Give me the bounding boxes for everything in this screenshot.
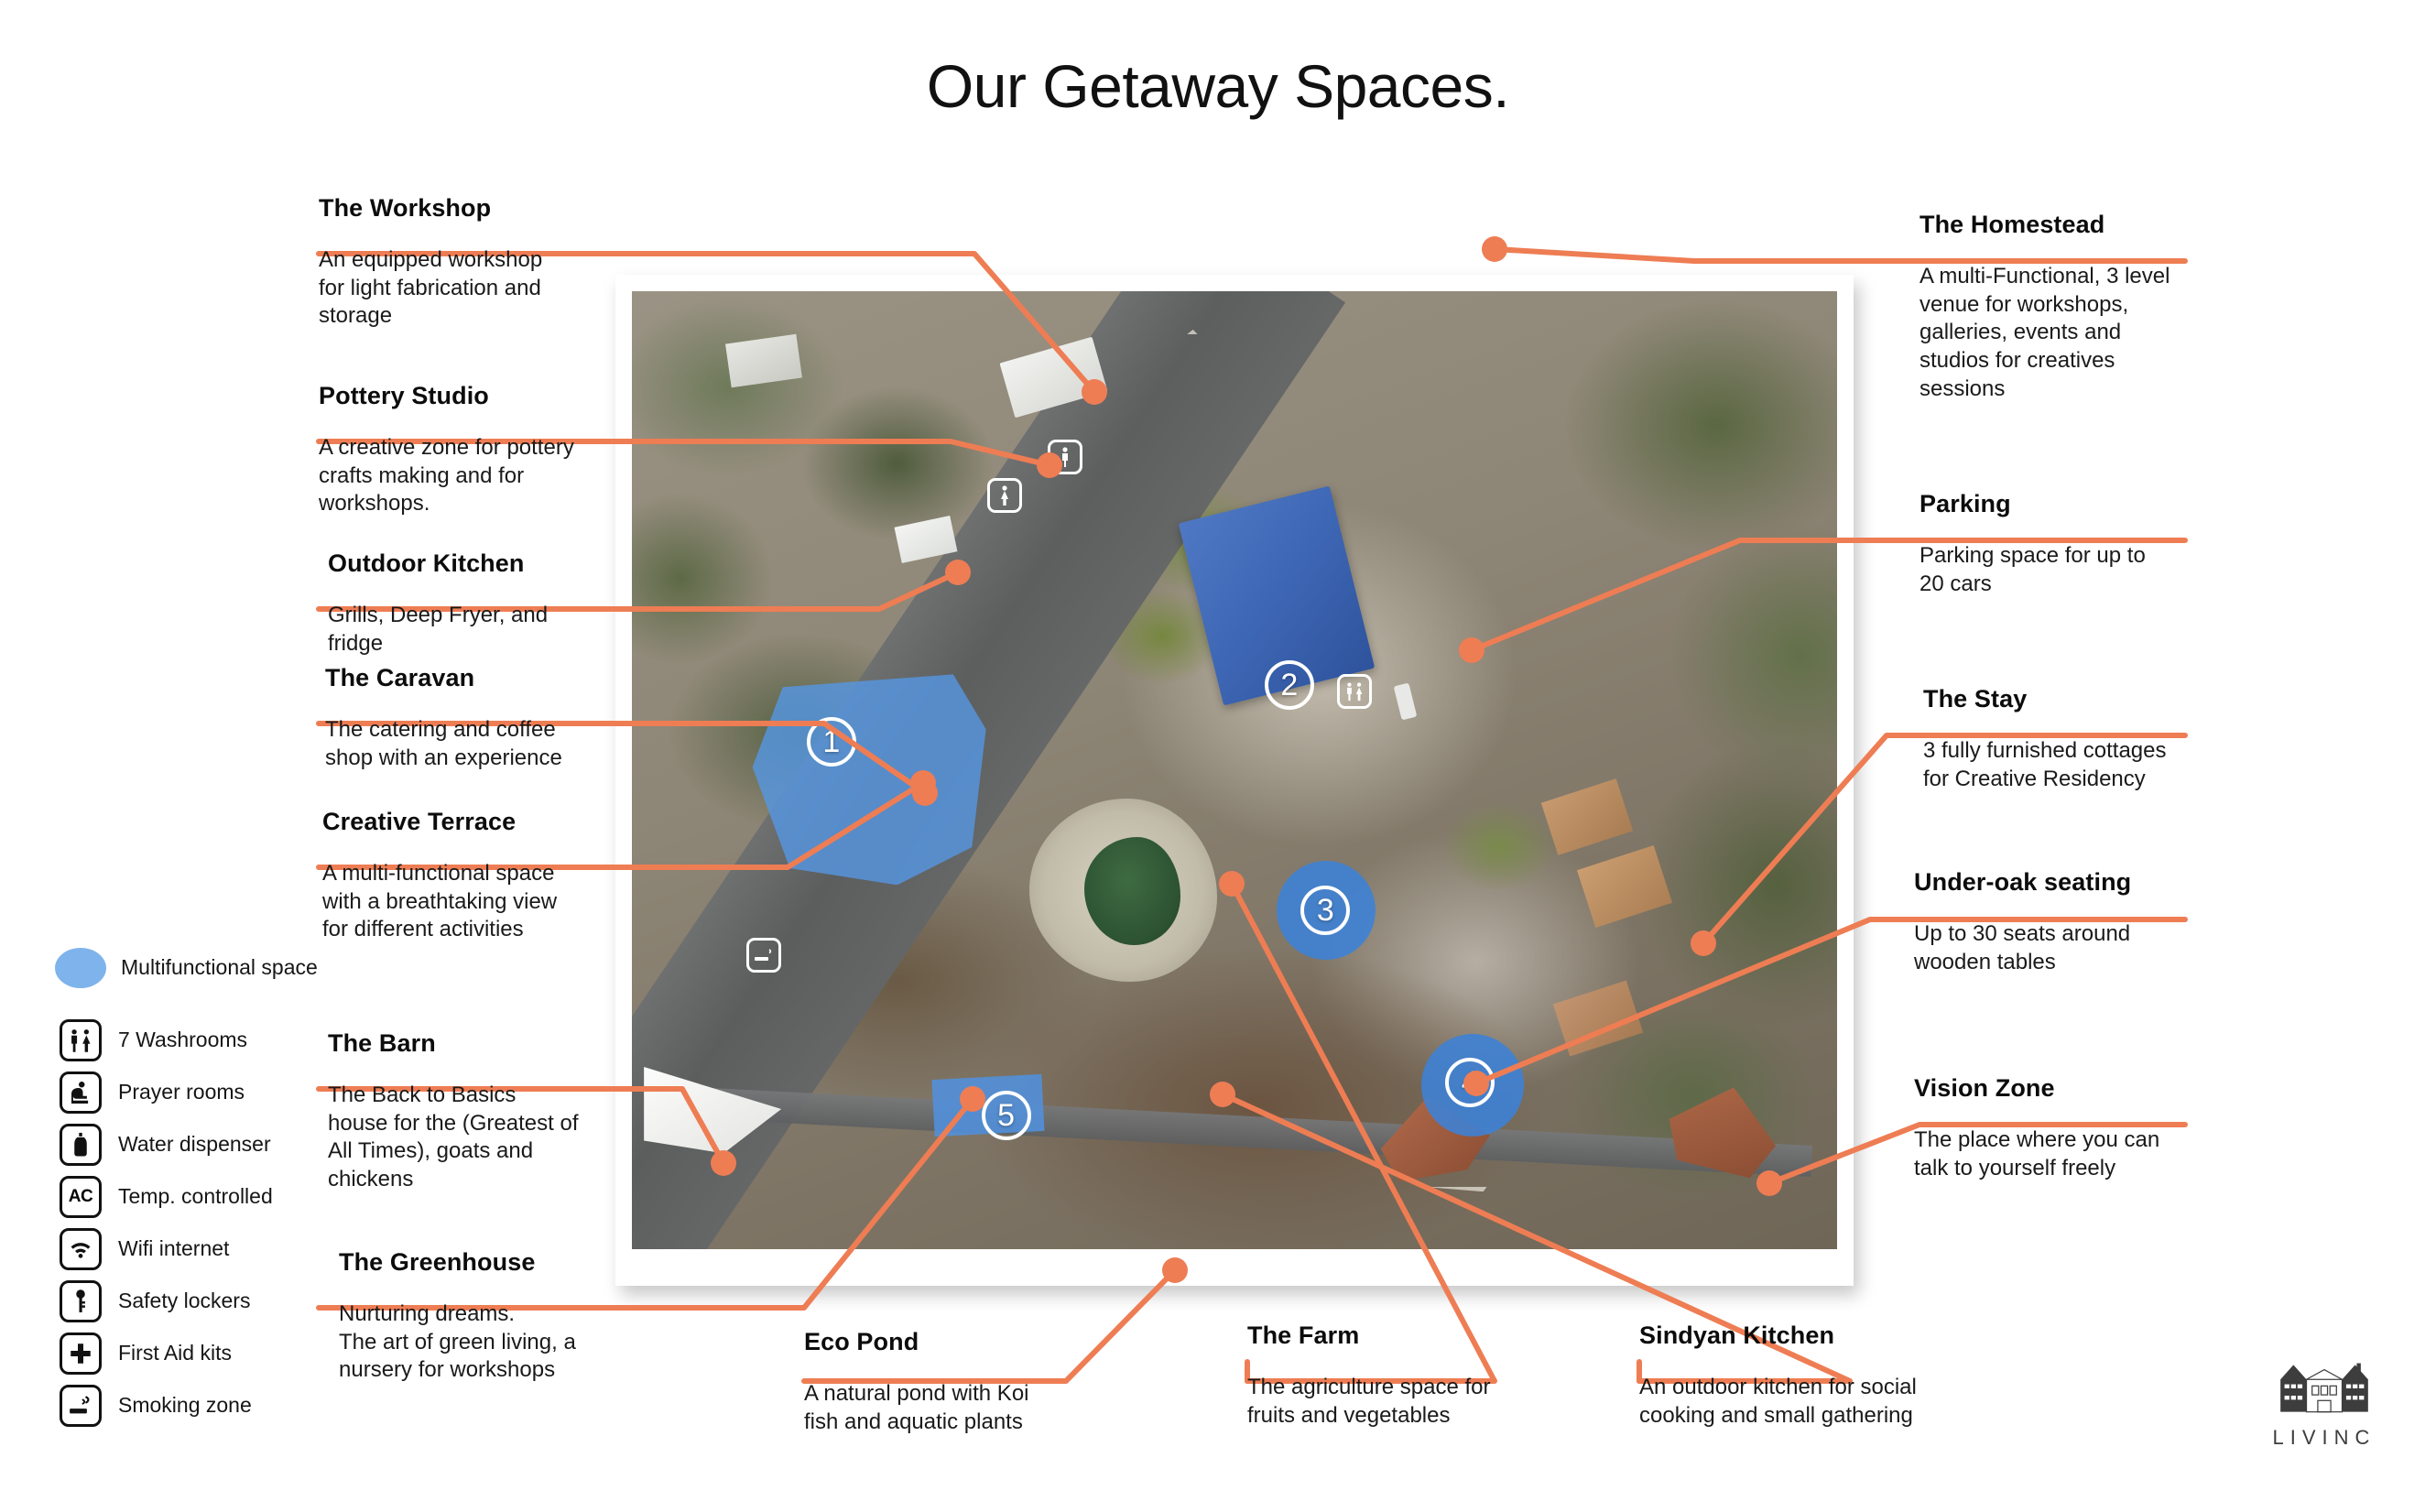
legend-label: Multifunctional space: [121, 955, 318, 980]
zone-creative-terrace: [753, 674, 986, 885]
callout-creative-terrace: Creative Terrace A multi-functional spac…: [322, 808, 615, 944]
callout-title: Sindyan Kitchen: [1639, 1322, 2006, 1350]
callout-desc: Up to 30 seats around wooden tables: [1914, 920, 2198, 976]
legend-label: Temp. controlled: [118, 1184, 273, 1209]
callout-pottery-studio: Pottery Studio A creative zone for potte…: [319, 382, 621, 518]
washroom-female-icon[interactable]: [987, 478, 1022, 513]
legend-label: 7 Washrooms: [118, 1028, 247, 1052]
first-aid-icon: [60, 1333, 102, 1375]
callout-title: The Barn: [328, 1029, 621, 1058]
house-icon: [2275, 1360, 2374, 1417]
callout-desc: 3 fully furnished cottages for Creative …: [1923, 737, 2207, 793]
callout-desc: A multi-Functional, 3 level venue for wo…: [1919, 263, 2203, 404]
map-marker-1[interactable]: 1: [807, 717, 856, 767]
callout-desc: The agriculture space for fruits and veg…: [1247, 1374, 1550, 1430]
legend-label: Smoking zone: [118, 1393, 252, 1418]
logo-text: LIVINC: [2260, 1426, 2388, 1450]
map-marker-5[interactable]: 5: [982, 1091, 1031, 1140]
callout-under-oak-seating: Under-oak seating Up to 30 seats around …: [1914, 868, 2198, 976]
water-dispenser-icon: [60, 1124, 102, 1166]
callout-vision-zone: Vision Zone The place where you can talk…: [1914, 1074, 2198, 1182]
legend-item-washrooms: 7 Washrooms: [55, 1014, 357, 1066]
legend: Multifunctional space 7 Washrooms Prayer…: [55, 941, 357, 1431]
washrooms-icon: [60, 1019, 102, 1061]
callout-the-stay: The Stay 3 fully furnished cottages for …: [1923, 685, 2207, 793]
callout-sindyan-kitchen: Sindyan Kitchen An outdoor kitchen for s…: [1639, 1322, 2006, 1430]
map-marker-4[interactable]: 4: [1445, 1058, 1495, 1107]
washroom-pair-icon[interactable]: [1337, 674, 1372, 709]
callout-the-workshop: The Workshop An equipped workshop for li…: [319, 194, 612, 331]
map-marker-3[interactable]: 3: [1300, 886, 1350, 935]
callout-desc: An outdoor kitchen for social cooking an…: [1639, 1374, 2006, 1430]
callout-title: Under-oak seating: [1914, 868, 2198, 897]
callout-desc: A natural pond with Koi fish and aquatic…: [804, 1380, 1106, 1436]
brand-logo: LIVINC: [2260, 1360, 2388, 1450]
aerial-site-photo: 1 2 3 4 5: [615, 275, 1854, 1286]
callout-title: Parking: [1919, 490, 2203, 518]
callout-outdoor-kitchen: Outdoor Kitchen Grills, Deep Fryer, and …: [328, 549, 621, 658]
aerial-photo-image: 1 2 3 4 5: [632, 291, 1837, 1249]
legend-label: First Aid kits: [118, 1341, 232, 1365]
smoking-zone-icon: [60, 1385, 102, 1427]
legend-label: Safety lockers: [118, 1289, 250, 1313]
smoking-zone-icon-map[interactable]: [746, 938, 781, 973]
callout-the-caravan: The Caravan The catering and coffee shop…: [325, 664, 618, 772]
callout-title: The Homestead: [1919, 211, 2203, 239]
callout-title: The Stay: [1923, 685, 2207, 713]
legend-item-wifi: Wifi internet: [55, 1223, 357, 1275]
ac-icon: AC: [60, 1176, 102, 1218]
callout-desc: Parking space for up to 20 cars: [1919, 542, 2203, 598]
legend-item-safety-lockers: Safety lockers: [55, 1275, 357, 1327]
prayer-room-icon: [60, 1071, 102, 1114]
poster-root: Our Getaway Spaces. 1: [0, 0, 2436, 1512]
zone-color-swatch: [55, 948, 106, 988]
legend-item-first-aid: First Aid kits: [55, 1327, 357, 1379]
callout-title: Outdoor Kitchen: [328, 549, 621, 578]
callout-title: Eco Pond: [804, 1328, 1106, 1356]
callout-desc: Nurturing dreams. The art of green livin…: [339, 1300, 641, 1385]
legend-item-water-dispenser: Water dispenser: [55, 1118, 357, 1170]
legend-item-multifunctional-space: Multifunctional space: [55, 941, 357, 994]
legend-label: Prayer rooms: [118, 1080, 245, 1104]
legend-item-smoking-zone: Smoking zone: [55, 1379, 357, 1431]
callout-title: Pottery Studio: [319, 382, 621, 410]
callout-desc: An equipped workshop for light fabricati…: [319, 246, 612, 331]
callout-eco-pond: Eco Pond A natural pond with Koi fish an…: [804, 1328, 1106, 1436]
ac-icon-glyph: AC: [69, 1187, 92, 1207]
callout-the-barn: The Barn The Back to Basics house for th…: [328, 1029, 621, 1194]
callout-desc: The place where you can talk to yourself…: [1914, 1126, 2198, 1182]
callout-title: The Workshop: [319, 194, 612, 223]
legend-item-prayer-rooms: Prayer rooms: [55, 1066, 357, 1118]
callout-the-farm: The Farm The agriculture space for fruit…: [1247, 1322, 1550, 1430]
safety-locker-icon: [60, 1280, 102, 1322]
callout-title: Vision Zone: [1914, 1074, 2198, 1103]
wifi-icon: [60, 1228, 102, 1270]
callout-desc: The Back to Basics house for the (Greate…: [328, 1082, 621, 1194]
legend-label: Water dispenser: [118, 1132, 271, 1157]
callout-desc: The catering and coffee shop with an exp…: [325, 716, 618, 772]
callout-title: The Greenhouse: [339, 1248, 641, 1277]
callout-title: The Farm: [1247, 1322, 1550, 1350]
callout-desc: Grills, Deep Fryer, and fridge: [328, 602, 621, 658]
page-title: Our Getaway Spaces.: [0, 53, 2436, 120]
callout-parking: Parking Parking space for up to 20 cars: [1919, 490, 2203, 598]
callout-the-homestead: The Homestead A multi-Functional, 3 leve…: [1919, 211, 2203, 404]
legend-label: Wifi internet: [118, 1236, 229, 1261]
map-marker-2[interactable]: 2: [1265, 660, 1314, 710]
callout-desc: A creative zone for pottery crafts makin…: [319, 434, 621, 518]
callout-desc: A multi-functional space with a breathta…: [322, 860, 615, 944]
washroom-male-icon[interactable]: [1048, 440, 1082, 474]
callout-the-greenhouse: The Greenhouse Nurturing dreams. The art…: [339, 1248, 641, 1385]
callout-title: Creative Terrace: [322, 808, 615, 836]
callout-title: The Caravan: [325, 664, 618, 692]
legend-item-temp-controlled: AC Temp. controlled: [55, 1170, 357, 1223]
